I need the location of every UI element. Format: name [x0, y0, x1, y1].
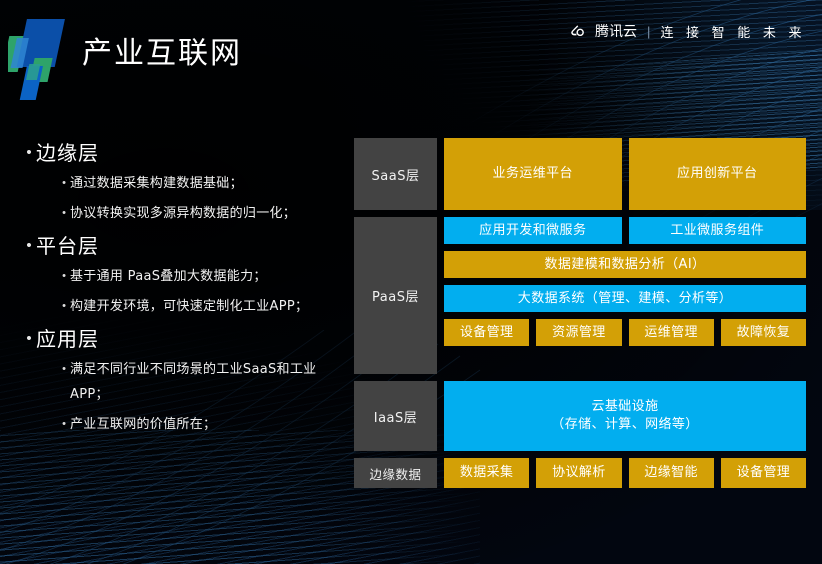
bullet-sub-text: 通过数据采集构建数据基础； — [70, 171, 243, 196]
sub-bullet-dot-icon: • — [58, 357, 70, 382]
stack-cell-cloud-infrastructure[interactable]: 云基础设施 （存储、计算、网络等） — [444, 381, 806, 451]
bullet-sub-text: 产业互联网的价值所在； — [70, 412, 216, 437]
bullet-sub-text: 协议转换实现多源异构数据的归一化； — [70, 201, 296, 226]
tencent-cloud-icon — [568, 21, 588, 41]
layer-label-saas: SaaS层 — [354, 138, 437, 210]
sub-bullet-dot-icon: • — [58, 201, 70, 226]
stack-row: 大数据系统（管理、建模、分析等） — [444, 285, 806, 312]
stack-cell-protocol-parsing[interactable]: 协议解析 — [536, 458, 621, 488]
stack-band-edge-body: 数据采集 协议解析 边缘智能 设备管理 — [444, 458, 806, 488]
stack-row: 数据建模和数据分析（AI） — [444, 251, 806, 278]
stack-cell-app-innovation-platform[interactable]: 应用创新平台 — [629, 138, 807, 210]
stack-cell-edge-intelligence[interactable]: 边缘智能 — [629, 458, 714, 488]
bullet-sub-item: • 满足不同行业不同场景的工业SaaS和工业APP； — [58, 357, 352, 407]
brand-separator: | — [647, 24, 650, 39]
stack-cell-resource-management[interactable]: 资源管理 — [536, 319, 621, 346]
stack-band-paas-body: 应用开发和微服务 工业微服务组件 数据建模和数据分析（AI） 大数据系统（管理、… — [444, 217, 806, 374]
slide: 产业互联网 腾讯云 | 连 接 智 能 未 来 • 边缘层 • 通过数据采集构建… — [0, 0, 822, 564]
brand-tagline: 连 接 智 能 未 来 — [660, 22, 806, 41]
sub-bullet-dot-icon: • — [58, 294, 70, 319]
stack-cell-data-collection[interactable]: 数据采集 — [444, 458, 529, 488]
bullet-sub-text: 构建开发环境，可快速定制化工业APP； — [70, 294, 308, 319]
stack-band-saas-body: 业务运维平台 应用创新平台 — [444, 138, 806, 210]
bullet-group-title: • 平台层 — [22, 231, 352, 261]
bullet-dot-icon: • — [22, 231, 36, 261]
sub-bullet-dot-icon: • — [58, 412, 70, 437]
sub-bullet-dot-icon: • — [58, 171, 70, 196]
stack-cell-data-modeling-analysis-ai[interactable]: 数据建模和数据分析（AI） — [444, 251, 806, 278]
bullet-group-title: • 边缘层 — [22, 138, 352, 168]
stack-band-iaas-body: 云基础设施 （存储、计算、网络等） — [444, 381, 806, 451]
bullet-sub-item: • 协议转换实现多源异构数据的归一化； — [58, 201, 352, 226]
stack-row: 应用开发和微服务 工业微服务组件 — [444, 217, 806, 244]
stack-band-iaas: IaaS层 云基础设施 （存储、计算、网络等） — [354, 381, 806, 451]
stack-cell-edge-device-management[interactable]: 设备管理 — [721, 458, 806, 488]
stack-band-paas: PaaS层 应用开发和微服务 工业微服务组件 数据建模和数据分析（AI） 大数据… — [354, 217, 806, 374]
bullet-group-title: • 应用层 — [22, 324, 352, 354]
stack-cell-business-ops-platform[interactable]: 业务运维平台 — [444, 138, 622, 210]
bullet-sub-item: • 通过数据采集构建数据基础； — [58, 171, 352, 196]
bullet-list: • 边缘层 • 通过数据采集构建数据基础； • 协议转换实现多源异构数据的归一化… — [22, 138, 352, 442]
stack-cell-industrial-microservice-components[interactable]: 工业微服务组件 — [629, 217, 807, 244]
tencent-cloud-name: 腾讯云 — [595, 21, 637, 41]
stack-cell-app-dev-microservices[interactable]: 应用开发和微服务 — [444, 217, 622, 244]
stack-row: 设备管理 资源管理 运维管理 故障恢复 — [444, 319, 806, 346]
stack-cell-fault-recovery[interactable]: 故障恢复 — [721, 319, 806, 346]
stack-cell-ops-management[interactable]: 运维管理 — [629, 319, 714, 346]
stack-cell-device-management[interactable]: 设备管理 — [444, 319, 529, 346]
header: 产业互联网 腾讯云 | 连 接 智 能 未 来 — [0, 0, 822, 118]
stack-band-edge: 边缘数据 数据采集 协议解析 边缘智能 设备管理 — [354, 458, 806, 488]
page-title: 产业互联网 — [82, 28, 242, 72]
stack-row: 云基础设施 （存储、计算、网络等） — [444, 381, 806, 451]
tencent-cloud-brand: 腾讯云 | 连 接 智 能 未 来 — [568, 20, 806, 42]
bullet-dot-icon: • — [22, 324, 36, 354]
stack-band-saas: SaaS层 业务运维平台 应用创新平台 — [354, 138, 806, 210]
stack-cell-bigdata-system[interactable]: 大数据系统（管理、建模、分析等） — [444, 285, 806, 312]
bullet-sub-item: • 基于通用 PaaS叠加大数据能力； — [58, 264, 352, 289]
bullet-dot-icon: • — [22, 138, 36, 168]
industrial-internet-logo-icon — [8, 14, 72, 106]
bullet-sub-item: • 构建开发环境，可快速定制化工业APP； — [58, 294, 352, 319]
bullet-sub-text: 基于通用 PaaS叠加大数据能力； — [70, 264, 267, 289]
stack-row: 数据采集 协议解析 边缘智能 设备管理 — [444, 458, 806, 488]
bullet-title: 应用层 — [36, 324, 99, 354]
architecture-stack: SaaS层 业务运维平台 应用创新平台 PaaS层 应用开发和微服务 工业微服务… — [354, 138, 806, 495]
bullet-title: 边缘层 — [36, 138, 99, 168]
bullet-title: 平台层 — [36, 231, 99, 261]
layer-label-iaas: IaaS层 — [354, 381, 437, 451]
sub-bullet-dot-icon: • — [58, 264, 70, 289]
layer-label-edge-data: 边缘数据 — [354, 458, 437, 488]
layer-label-paas: PaaS层 — [354, 217, 437, 374]
bullet-sub-item: • 产业互联网的价值所在； — [58, 412, 352, 437]
stack-row: 业务运维平台 应用创新平台 — [444, 138, 806, 210]
bullet-sub-text: 满足不同行业不同场景的工业SaaS和工业APP； — [70, 357, 352, 407]
